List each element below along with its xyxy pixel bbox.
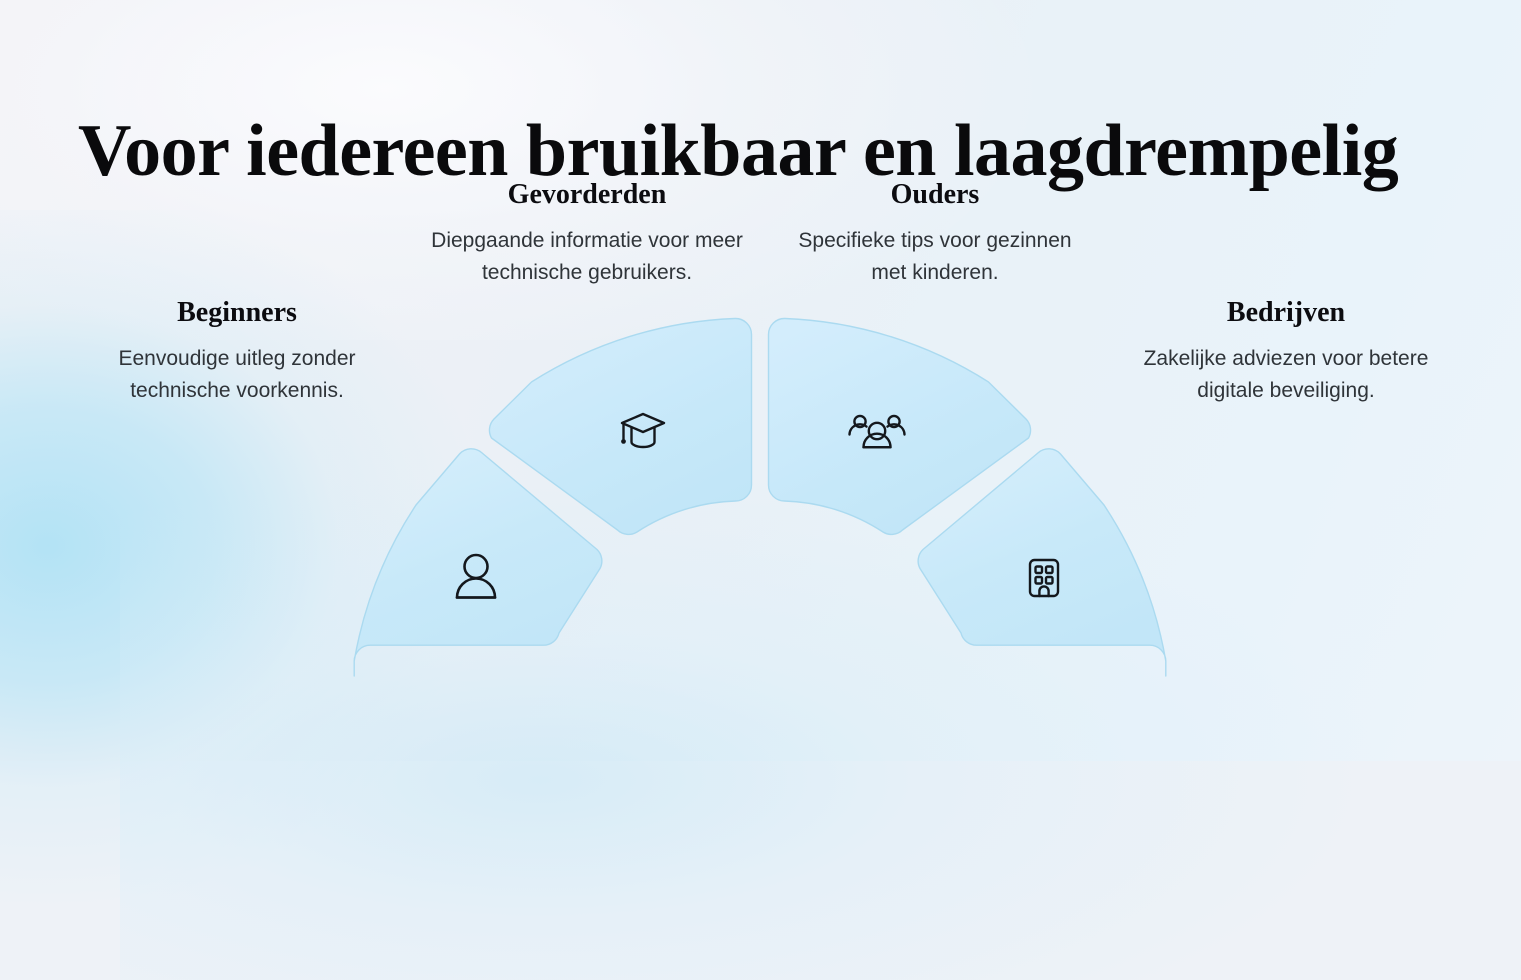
label-block-beginners: Beginners Eenvoudige uitleg zonder techn…	[92, 298, 382, 407]
label-block-bedrijven: Bedrijven Zakelijke adviezen voor betere…	[1128, 298, 1444, 407]
label-block-ouders: Ouders Specifieke tips voor gezinnen met…	[790, 180, 1080, 289]
page-title: Voor iedereen bruikbaar en laagdrempelig	[78, 114, 1398, 188]
segment-description-ouders: Specifieke tips voor gezinnen met kinder…	[790, 225, 1080, 289]
segment-title-bedrijven: Bedrijven	[1128, 298, 1444, 329]
label-block-gevorderden: Gevorderden Diepgaande informatie voor m…	[428, 180, 746, 289]
segment-description-gevorderden: Diepgaande informatie voor meer technisc…	[428, 225, 746, 289]
segment-description-bedrijven: Zakelijke adviezen voor betere digitale …	[1128, 343, 1444, 407]
segment-description-beginners: Eenvoudige uitleg zonder technische voor…	[92, 343, 382, 407]
segment-title-beginners: Beginners	[92, 298, 382, 329]
segment-title-ouders: Ouders	[790, 180, 1080, 211]
segment-title-gevorderden: Gevorderden	[428, 180, 746, 211]
